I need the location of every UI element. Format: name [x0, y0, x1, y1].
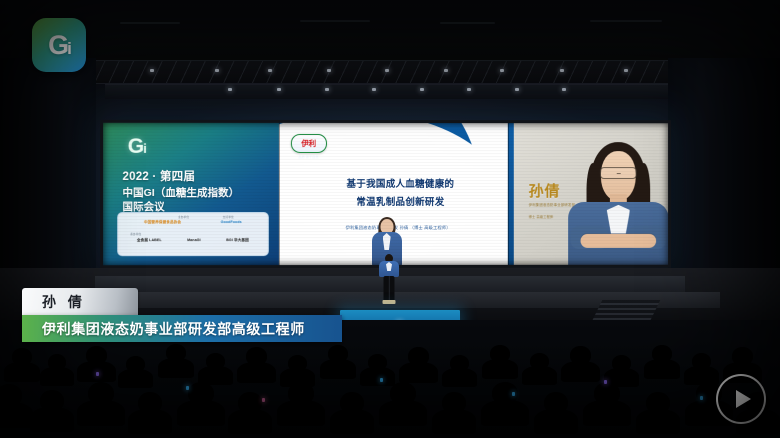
truss-light — [444, 69, 448, 72]
truss-light — [228, 88, 232, 91]
audience-head — [612, 355, 631, 371]
speaker-portrait-photo — [566, 134, 668, 264]
audience-head — [652, 345, 672, 362]
audience-device-glow — [604, 380, 607, 384]
slide-panel-center: 伊利 品质 源于自然 基于我国成人血糖健康的 常温乳制品创新研发 伊利集团液态奶… — [279, 123, 508, 265]
ceiling-beam — [590, 20, 662, 22]
sponsor-caption-mid: 支持单位 — [223, 215, 234, 219]
ceiling-beam — [120, 22, 180, 24]
ceiling-beam — [300, 20, 370, 22]
truss-light — [327, 69, 331, 72]
audience-head — [732, 347, 753, 365]
slide-panel-left: Gi 2022 · 第四届 中国GI（血糖生成指数） 国际会议 主办单位 支持单… — [103, 123, 279, 265]
audience-head — [490, 345, 510, 362]
audience-head — [86, 346, 107, 364]
portrait-shirt — [607, 205, 630, 234]
lighting-truss-lower — [105, 84, 695, 99]
truss-light — [385, 69, 389, 72]
audience-device-glow — [262, 398, 265, 402]
play-button[interactable] — [716, 374, 766, 424]
presentation-title: 基于我国成人血糖健康的 常温乳制品创新研发 — [307, 176, 495, 212]
sponsor-caption-left: 承办单位 — [130, 232, 141, 236]
audience-head — [328, 345, 348, 362]
audience-head — [288, 382, 314, 404]
truss-light — [277, 88, 281, 91]
sponsor-caption-top: 主办单位 — [178, 215, 189, 219]
led-panel-seam — [508, 123, 509, 265]
audience-head — [288, 355, 307, 371]
speaker-title-bar: 伊利集团液态奶事业部研发部高级工程师 — [22, 315, 342, 342]
speaker-name-bar: 孙 倩 — [22, 288, 138, 315]
truss-light — [215, 69, 219, 72]
lighting-truss — [90, 60, 710, 84]
sponsor-logo-box: 主办单位 支持单位 中国营养保健食品协会 GoodFoods 承办单位 全食展 … — [117, 212, 268, 257]
audience-head — [138, 392, 162, 413]
truss-light — [420, 88, 424, 91]
speaker-title-text: 伊利集团液态奶事业部研发部高级工程师 — [42, 319, 305, 339]
led-panel-seam — [279, 123, 280, 265]
audience-head — [166, 344, 186, 361]
audience-head — [570, 346, 591, 364]
presentation-title-line1: 基于我国成人血糖健康的 — [307, 176, 495, 194]
truss-light — [560, 69, 564, 72]
truss-light — [467, 88, 471, 91]
glasses-icon — [600, 167, 637, 179]
yili-badge: 伊利 — [290, 134, 326, 153]
presenter-shoes — [383, 300, 396, 304]
play-icon — [736, 390, 751, 408]
truss-light — [624, 69, 628, 72]
speaker-name-text: 孙 倩 — [42, 292, 86, 312]
truss-light — [325, 88, 329, 91]
audience-device-glow — [512, 392, 515, 396]
audience-head — [450, 355, 469, 371]
video-frame: Gi 2022 · 第四届 中国GI（血糖生成指数） 国际会议 主办单位 支持单… — [0, 0, 780, 438]
audience-head — [594, 382, 620, 404]
presenter-on-stage — [375, 254, 403, 308]
audience-head — [188, 382, 214, 404]
audience-head — [408, 347, 429, 365]
audience-head — [88, 382, 114, 404]
ceiling — [0, 0, 780, 60]
audience-head — [238, 392, 262, 413]
audience-device-glow — [700, 396, 703, 400]
audience-head — [246, 347, 267, 365]
slide-panel-right: 孙倩 伊利集团液态奶事业部研发部 博士 高级工程师 — [508, 123, 668, 265]
truss-light — [515, 88, 519, 91]
portrait-crossed-arms — [580, 234, 656, 248]
sponsor-logo: 全食展 LABEL — [137, 238, 162, 243]
truss-light — [150, 69, 154, 72]
audience-head — [390, 382, 416, 404]
audience-device-glow — [380, 378, 383, 382]
audience-head — [48, 354, 66, 370]
truss-light — [372, 88, 376, 91]
audience-head — [206, 353, 225, 369]
app-logo[interactable]: Gi — [32, 18, 86, 72]
yili-tagline: 品质 源于自然 — [290, 155, 326, 159]
audience-head — [40, 390, 64, 411]
ceiling-beam — [440, 22, 495, 24]
app-logo-text: Gi — [48, 32, 70, 59]
speaker-name-gold: 孙倩 — [529, 180, 561, 201]
audience-head — [368, 354, 387, 370]
audience-head — [0, 384, 22, 406]
audience-head — [12, 348, 32, 365]
presentation-title-line2: 常温乳制品创新研发 — [307, 194, 495, 212]
truss-light — [500, 69, 504, 72]
audience-head — [126, 356, 145, 372]
conference-gi-logo: Gi — [128, 136, 146, 157]
audience-head — [442, 392, 466, 413]
sponsor-logo: BGI 华大基因 — [226, 238, 249, 243]
sponsor-logo: ManaGI — [187, 238, 201, 242]
sponsor-logo: GoodFoods — [221, 220, 242, 224]
conference-title-line2: 中国GI（血糖生成指数） — [122, 186, 270, 201]
audience-head — [692, 353, 711, 369]
audience-device-glow — [186, 386, 189, 390]
audience-head — [530, 353, 549, 369]
truss-light — [268, 69, 272, 72]
audience-head — [646, 392, 670, 413]
sponsor-logo: 中国营养保健食品协会 — [144, 220, 181, 225]
audience-device-glow — [96, 372, 99, 376]
led-video-wall: Gi 2022 · 第四届 中国GI（血糖生成指数） 国际会议 主办单位 支持单… — [100, 120, 671, 268]
audience-head — [544, 392, 568, 413]
yili-brand-logo: 伊利 品质 源于自然 — [290, 134, 326, 160]
truss-light — [562, 88, 566, 91]
lower-third-banner: 孙 倩 伊利集团液态奶事业部研发部高级工程师 — [22, 288, 342, 342]
conference-title-line1: 2022 · 第四届 — [122, 170, 270, 186]
presenter-legs — [384, 276, 395, 302]
conference-title: 2022 · 第四届 中国GI（血糖生成指数） 国际会议 — [122, 170, 270, 215]
audience-head — [340, 392, 364, 413]
